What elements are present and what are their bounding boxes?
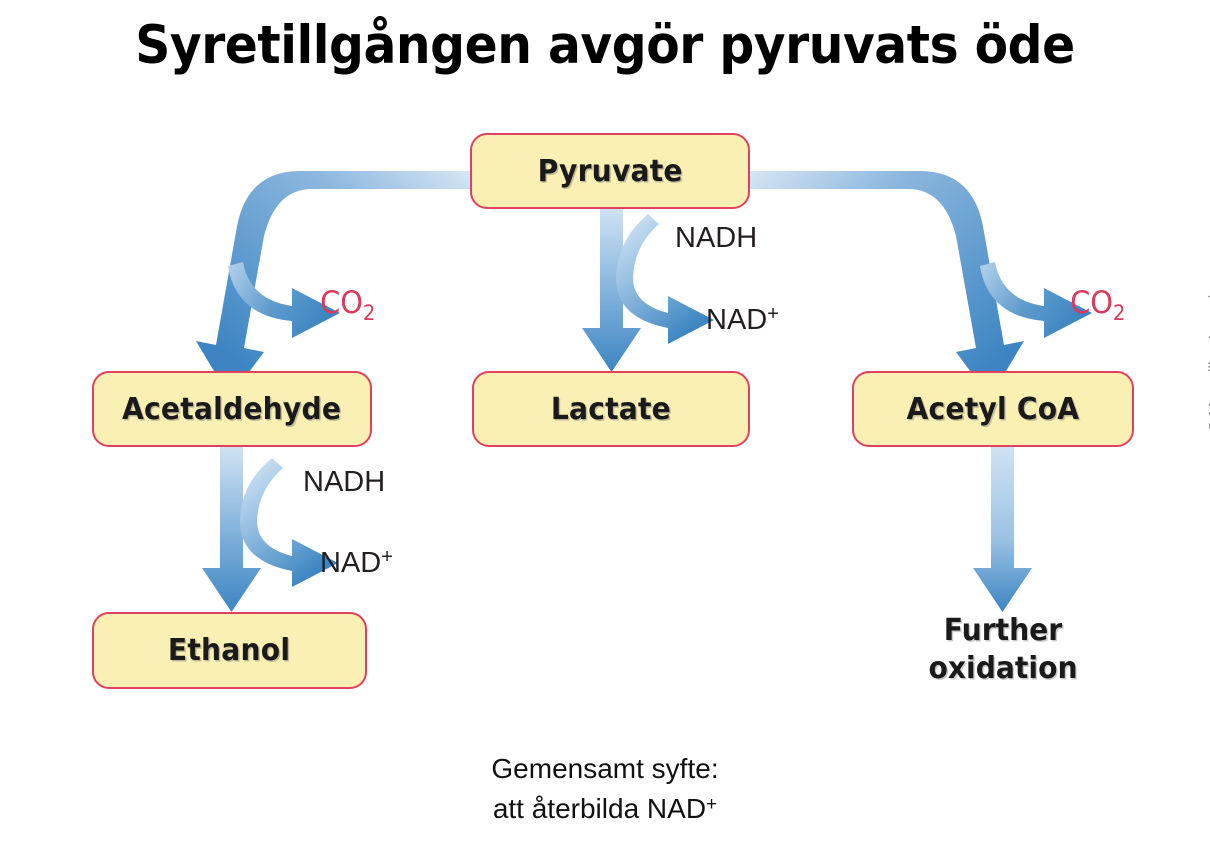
label-nadplus-lactate-text: NAD bbox=[706, 304, 767, 336]
label-nadplus-ethanol-superscript: + bbox=[381, 546, 393, 568]
caption: Gemensamt syfte: att återbilda NAD+ bbox=[0, 751, 1210, 827]
label-co2-right-subscript: 2 bbox=[1113, 301, 1125, 325]
diagram-page: Syretillgången avgör pyruvats öde bbox=[0, 0, 1210, 842]
further-oxidation-line2: oxidation bbox=[880, 650, 1126, 688]
label-co2-left-subscript: 2 bbox=[363, 301, 375, 325]
label-nadplus-lactate: NAD+ bbox=[706, 303, 779, 337]
caption-line-2-superscript: + bbox=[706, 794, 717, 815]
label-nadh-ethanol-text: NADH bbox=[303, 466, 385, 498]
node-acetaldehyde-label: Acetaldehyde bbox=[122, 392, 341, 427]
label-nadh-ethanol: NADH bbox=[303, 466, 385, 499]
node-acetyl-coa[interactable]: Acetyl CoA bbox=[852, 371, 1134, 447]
label-co2-left: CO2 bbox=[320, 285, 375, 325]
label-co2-right-text: CO bbox=[1070, 285, 1113, 321]
node-further-oxidation: Further oxidation bbox=[880, 612, 1126, 688]
node-ethanol-label: Ethanol bbox=[168, 633, 290, 668]
caption-line-1: Gemensamt syfte: bbox=[0, 751, 1210, 787]
label-nadh-lactate-text: NADH bbox=[675, 222, 757, 254]
label-nadh-lactate: NADH bbox=[675, 222, 757, 255]
node-pyruvate-label: Pyruvate bbox=[537, 154, 682, 189]
node-acetaldehyde[interactable]: Acetaldehyde bbox=[92, 371, 372, 447]
node-acetyl-coa-label: Acetyl CoA bbox=[907, 392, 1080, 427]
node-pyruvate[interactable]: Pyruvate bbox=[470, 133, 750, 209]
label-co2-left-text: CO bbox=[320, 285, 363, 321]
caption-line-2-text: att återbilda NAD bbox=[493, 793, 706, 824]
further-oxidation-line1: Further bbox=[880, 612, 1126, 650]
label-nadplus-ethanol: NAD+ bbox=[320, 546, 393, 580]
node-lactate-label: Lactate bbox=[551, 392, 671, 427]
node-lactate[interactable]: Lactate bbox=[472, 371, 750, 447]
arrow-acetylcoa-to-further-oxidation bbox=[973, 447, 1032, 612]
caption-line-2: att återbilda NAD+ bbox=[0, 787, 1210, 827]
label-nadplus-lactate-superscript: + bbox=[767, 303, 779, 325]
arrow-pyruvate-to-acetylcoa bbox=[750, 171, 1024, 398]
node-ethanol[interactable]: Ethanol bbox=[92, 612, 367, 689]
label-nadplus-ethanol-text: NAD bbox=[320, 547, 381, 579]
label-co2-right: CO2 bbox=[1070, 285, 1125, 325]
